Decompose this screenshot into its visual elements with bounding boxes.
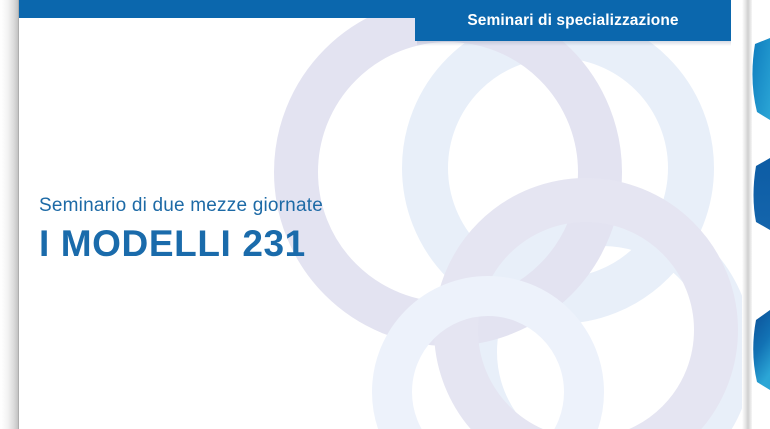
title-block: Seminario di due mezze giornate I MODELL… [39,193,323,267]
header-banner-label: Seminari di specializzazione [467,12,678,30]
header-banner-shadow [417,41,731,46]
page-right-edge [742,0,752,429]
page-binding-line [18,0,19,429]
seminar-subtitle: Seminario di due mezze giornate [39,193,323,219]
seminar-title: I MODELLI 231 [39,221,323,267]
header-rule [18,0,417,18]
header-banner: Seminari di specializzazione [415,0,731,41]
page-binding-gutter [0,0,19,429]
ring-fragment-upper [752,38,770,120]
ring-fragment-middle [754,158,770,230]
next-page-ring-fragments [751,0,770,429]
page-sheet: Seminari di specializzazione Seminario d… [18,0,745,429]
brochure-cover-page: Seminari di specializzazione Seminario d… [0,0,770,429]
ring-fragment-lower [753,310,770,390]
next-page-peek [751,0,770,429]
